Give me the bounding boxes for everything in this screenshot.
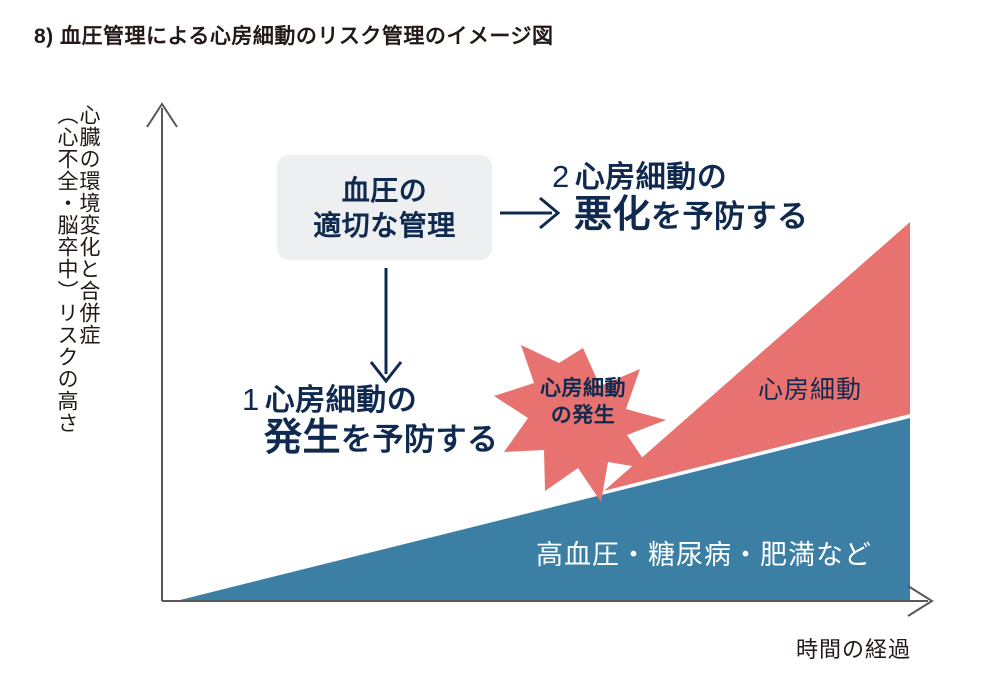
step-1-suffix: を予防する <box>341 422 499 457</box>
step-1-row-1: 1心房細動の <box>242 383 499 418</box>
area-label-atrial-fibrillation: 心房細動 <box>758 370 862 406</box>
step-2-suffix: を予防する <box>651 199 809 234</box>
step-2-row-1: 2心房細動の <box>552 160 809 195</box>
step-2-number: 2 <box>552 159 575 194</box>
step-2-heading: 2心房細動の 悪化を予防する <box>552 160 809 237</box>
chart-area: （心不全・脳卒中）リスクの高さ 心臓の環境変化と合併症 時間の経過 血圧の 適切… <box>0 0 1008 685</box>
af-onset-label-line-1: 心房細動 <box>519 375 647 402</box>
step-1-heading: 1心房細動の 発生を予防する <box>242 383 499 460</box>
area-label-risk-factors: 高血圧・糖尿病・肥満など <box>536 533 872 572</box>
y-axis-label: （心不全・脳卒中）リスクの高さ 心臓の環境変化と合併症 <box>56 104 99 564</box>
af-onset-label-line-2: の発生 <box>519 402 647 429</box>
y-axis-label-line-2: （心不全・脳卒中）リスクの高さ <box>56 104 77 434</box>
callout-line-1: 血圧の <box>342 173 428 208</box>
risk-area-chart <box>0 0 1008 685</box>
callout-line-2: 適切な管理 <box>313 208 456 243</box>
step-2-emphasis: 悪化 <box>574 194 651 236</box>
step-1-row-2: 発生を予防する <box>242 418 499 460</box>
step-2-row-2: 悪化を予防する <box>552 195 809 237</box>
step-1-number: 1 <box>242 382 265 417</box>
af-onset-label: 心房細動 の発生 <box>519 375 647 430</box>
step-2-subject: 心房細動の <box>575 161 728 194</box>
step-1-emphasis: 発生 <box>264 417 341 459</box>
step-1-subject: 心房細動の <box>265 384 418 417</box>
blood-pressure-control-callout: 血圧の 適切な管理 <box>277 155 492 260</box>
y-axis-label-line-1: 心臓の環境変化と合併症 <box>78 104 99 346</box>
x-axis-label: 時間の経過 <box>796 632 911 664</box>
